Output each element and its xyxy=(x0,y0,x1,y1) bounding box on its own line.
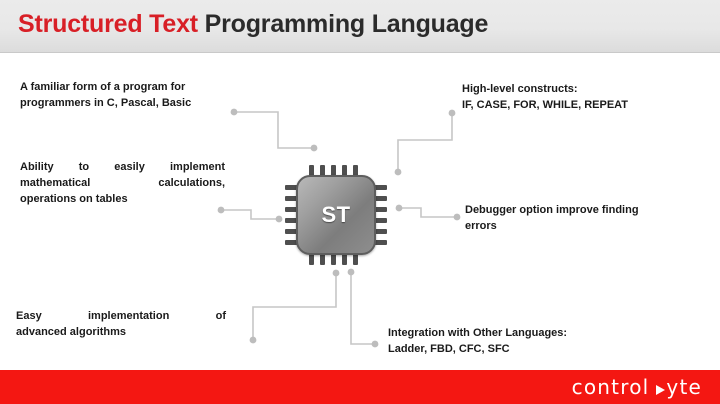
connector-dot xyxy=(250,337,257,344)
chip-body: ST xyxy=(296,175,376,255)
callout-line: programmers in C, Pascal, Basic xyxy=(20,96,246,112)
callout-line: Ladder, FBD, CFC, SFC xyxy=(388,342,638,358)
connector-dot xyxy=(454,214,461,221)
connector-dot xyxy=(449,110,456,117)
logo-text-byte: yte xyxy=(656,375,702,399)
logo-byte-text: yte xyxy=(666,375,702,399)
connector-dot xyxy=(396,205,403,212)
callout-integration: Integration with Other Languages: Ladder… xyxy=(388,326,638,358)
connector-dot xyxy=(333,270,340,277)
logo-b-mark-icon xyxy=(656,385,665,395)
connector-dot xyxy=(348,269,355,276)
connector-dot xyxy=(372,341,379,348)
cpu-chip-icon: ST xyxy=(284,163,388,267)
callout-debugger: Debugger option improve finding errors xyxy=(465,203,690,235)
callout-line: operations on tables xyxy=(20,192,225,208)
slide: Structured Text Programming Language xyxy=(0,0,720,404)
callout-line: Debugger option improve finding xyxy=(465,203,690,219)
callout-line: errors xyxy=(465,219,690,235)
callout-line: Integration with Other Languages: xyxy=(388,326,638,342)
callout-familiar: A familiar form of a program for program… xyxy=(20,80,246,112)
controlbyte-logo: controlyte xyxy=(572,375,702,399)
slide-footer: controlyte xyxy=(0,370,720,404)
callout-easy: Easy implementation of advanced algorith… xyxy=(16,309,226,341)
chip-label: ST xyxy=(298,177,374,253)
connector-dot xyxy=(276,216,283,223)
callout-line: IF, CASE, FOR, WHILE, REPEAT xyxy=(462,98,702,114)
callout-line: Easy implementation of xyxy=(16,309,226,325)
callout-line: advanced algorithms xyxy=(16,325,226,341)
callout-line: mathematical calculations, xyxy=(20,176,225,192)
connector-dot xyxy=(311,145,318,152)
connector-dot xyxy=(395,169,402,176)
logo-text-control: control xyxy=(572,375,650,399)
callout-line: Ability to easily implement xyxy=(20,160,225,176)
callout-line: High-level constructs: xyxy=(462,82,702,98)
callout-highlevel: High-level constructs: IF, CASE, FOR, WH… xyxy=(462,82,702,114)
callout-ability: Ability to easily implement mathematical… xyxy=(20,160,225,208)
callout-line: A familiar form of a program for xyxy=(20,80,246,96)
